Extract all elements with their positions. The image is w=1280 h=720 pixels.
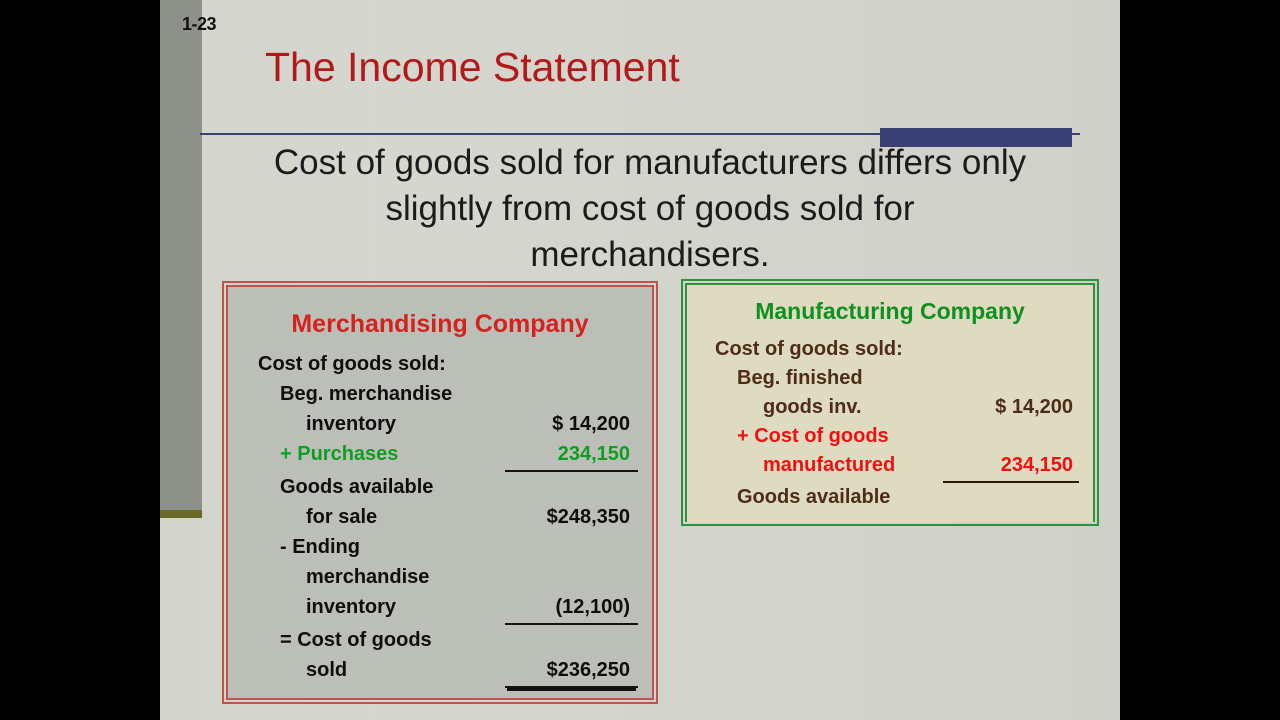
statement-line-label: for sale <box>306 502 377 532</box>
statement-line: inventory(12,100) <box>258 592 638 625</box>
merchandising-company-panel: Merchandising Company Cost of goods sold… <box>226 285 654 700</box>
presentation-slide: 1-23 The Income Statement Cost of goods … <box>160 0 1120 720</box>
statement-line-amount: 234,150 <box>505 439 638 472</box>
sidebar-accent-bar <box>160 510 202 518</box>
statement-line: for sale$248,350 <box>258 502 638 532</box>
page-indicator: 1-23 <box>182 14 216 35</box>
statement-line: + Purchases234,150 <box>258 439 638 472</box>
statement-line-label: Goods available <box>280 472 433 502</box>
statement-line: Cost of goods sold: <box>715 335 1079 364</box>
manufacturing-company-panel: Manufacturing Company Cost of goods sold… <box>685 283 1095 522</box>
merchandising-panel-title: Merchandising Company <box>228 310 652 339</box>
slide-title: The Income Statement <box>265 44 680 91</box>
statement-line-label: inventory <box>306 409 396 439</box>
statement-line: Beg. merchandise <box>258 379 638 409</box>
statement-line: = Cost of goods <box>258 625 638 655</box>
sidebar-decorative-band <box>160 0 202 510</box>
statement-line-label: merchandise <box>306 562 429 592</box>
statement-line: + Cost of goods <box>715 422 1079 451</box>
statement-line-amount: (12,100) <box>505 592 638 625</box>
statement-line-label: Cost of goods sold: <box>715 335 903 364</box>
statement-line-label: + Cost of goods <box>737 422 889 451</box>
statement-line-amount: $248,350 <box>505 502 638 532</box>
statement-line-label: Beg. finished <box>737 364 863 393</box>
statement-line-amount: 234,150 <box>943 451 1079 483</box>
manufacturing-line-list: Cost of goods sold:Beg. finishedgoods in… <box>687 335 1093 512</box>
statement-line-label: manufactured <box>763 451 895 480</box>
statement-line-label: - Ending <box>280 532 360 562</box>
statement-line-label: goods inv. <box>763 393 862 422</box>
statement-line-label: + Purchases <box>280 439 398 469</box>
statement-line: merchandise <box>258 562 638 592</box>
statement-line: - Ending <box>258 532 638 562</box>
statement-line: manufactured234,150 <box>715 451 1079 483</box>
manufacturing-panel-title: Manufacturing Company <box>687 298 1093 325</box>
statement-line: Goods available <box>715 483 1079 512</box>
statement-line: goods inv.$ 14,200 <box>715 393 1079 422</box>
statement-line: inventory$ 14,200 <box>258 409 638 439</box>
statement-line: sold$236,250 <box>258 655 638 688</box>
statement-line-label: = Cost of goods <box>280 625 432 655</box>
statement-line-amount: $236,250 <box>505 655 638 688</box>
statement-line: Cost of goods sold: <box>258 349 638 379</box>
statement-line-label: Goods available <box>737 483 890 512</box>
body-statement: Cost of goods sold for manufacturers dif… <box>270 140 1030 278</box>
statement-line-label: inventory <box>306 592 396 622</box>
statement-line-amount: $ 14,200 <box>943 393 1079 422</box>
slide-stage: 1-23 The Income Statement Cost of goods … <box>0 0 1280 720</box>
statement-line: Beg. finished <box>715 364 1079 393</box>
merchandising-line-list: Cost of goods sold:Beg. merchandiseinven… <box>228 349 652 688</box>
statement-line-label: sold <box>306 655 347 685</box>
statement-line-amount: $ 14,200 <box>505 409 638 439</box>
statement-line-label: Cost of goods sold: <box>258 349 446 379</box>
statement-line: Goods available <box>258 472 638 502</box>
letterbox-left <box>0 0 160 720</box>
letterbox-right <box>1120 0 1280 720</box>
statement-line-label: Beg. merchandise <box>280 379 452 409</box>
